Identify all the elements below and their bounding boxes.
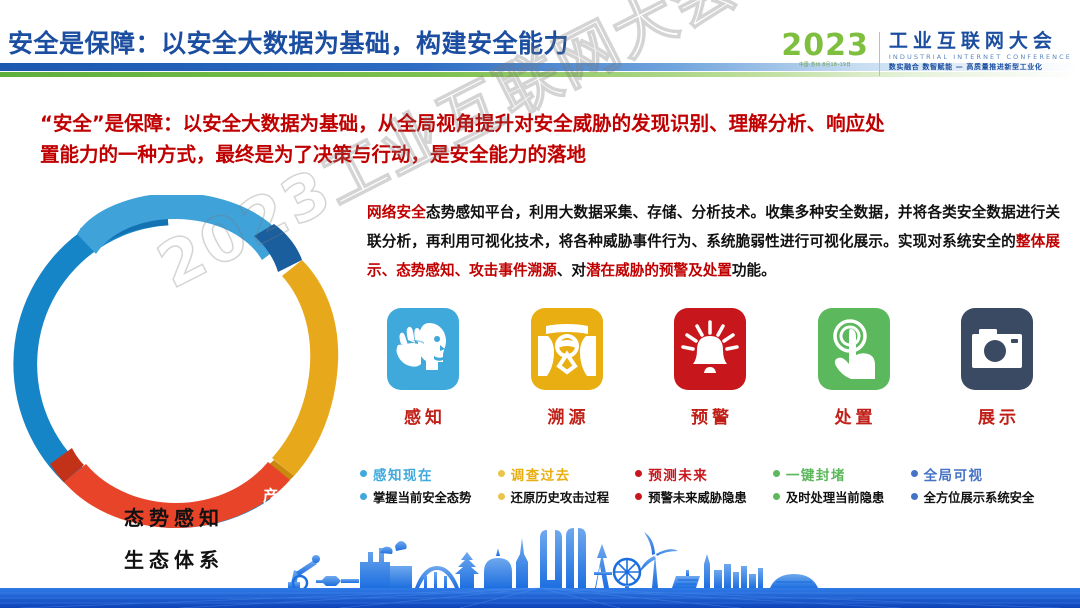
display-caption: 展示 xyxy=(974,403,1020,428)
bullet-subline: 还原历史攻击过程 xyxy=(511,488,609,506)
bullet-dot-icon xyxy=(773,493,780,500)
bullet-headline-row: 全局可视 xyxy=(911,462,1060,485)
bullet-subline-row: 还原历史攻击过程 xyxy=(498,485,636,508)
logo-divider xyxy=(879,32,880,76)
logo-slogan: 数实融合 数智赋能 — 高质量推进新型工业化 xyxy=(889,62,1072,73)
display-tile[interactable] xyxy=(961,308,1033,390)
bullet-dot-icon xyxy=(498,470,505,477)
bullet-dot-icon xyxy=(635,470,642,477)
bullet-col-traceability: 调查过去 还原历史攻击过程 xyxy=(498,462,636,508)
one-click-block-touch-icon xyxy=(825,319,883,379)
bullet-headline-row: 预测未来 xyxy=(635,462,773,485)
logo-year-block: 2023 中国·苏州 8月18–19日 xyxy=(781,30,879,70)
lead-line-2: 置能力的一种方式，最终是为了决策与行动，是安全能力的落地 xyxy=(40,139,1060,170)
donut-svg xyxy=(2,195,354,533)
bullet-headline-row: 感知现在 xyxy=(360,462,498,485)
bullet-dot-icon xyxy=(360,470,367,477)
disposal-caption: 处置 xyxy=(831,403,877,428)
bullet-headline: 调查过去 xyxy=(511,464,571,484)
bullet-col-disposal: 一键封堵 及时处理当前隐患 xyxy=(773,462,911,508)
bullet-dot-icon xyxy=(773,470,780,477)
perception-head-hand-icon xyxy=(393,320,453,378)
bullet-subline-row: 全方位展示系统安全 xyxy=(911,485,1060,508)
body-part-4: 潜在威胁的预警及处置 xyxy=(586,262,732,279)
footer-skyline-svg xyxy=(0,528,1080,608)
bullet-subline: 预警未来威胁隐患 xyxy=(648,488,746,506)
body-part-0: 网络安全 xyxy=(367,204,426,221)
bullet-subline-row: 掌握当前安全态势 xyxy=(360,485,498,508)
footer-skyline xyxy=(0,528,1080,608)
body-part-3: 、对 xyxy=(557,262,586,279)
bullet-headline: 一键封堵 xyxy=(786,464,846,484)
bullet-subline-row: 及时处理当前隐患 xyxy=(773,485,911,508)
bullet-headline: 预测未来 xyxy=(648,464,708,484)
bullet-dot-icon xyxy=(635,493,642,500)
page-title: 安全是保障：以安全大数据为基础，构建安全能力 xyxy=(8,24,569,60)
bullet-dot-icon xyxy=(360,493,367,500)
bullet-dot-icon xyxy=(911,493,918,500)
bullet-subline: 全方位展示系统安全 xyxy=(924,488,1035,506)
skyline-buildings xyxy=(288,528,818,590)
traceability-tile[interactable] xyxy=(531,308,603,390)
donut-label-security-tech: 安全技术 xyxy=(95,403,169,425)
bullet-headline: 感知现在 xyxy=(373,464,433,484)
logo-year: 2023 xyxy=(781,30,869,62)
body-part-5: 功能。 xyxy=(732,262,776,279)
bullet-headline: 全局可视 xyxy=(924,464,984,484)
trace-source-magnifier-icon xyxy=(538,320,596,378)
bullet-subline-row: 预警未来威胁隐患 xyxy=(635,485,773,508)
display-camera-icon xyxy=(969,325,1025,373)
perception-tile[interactable] xyxy=(387,308,459,390)
lead-paragraph: “安全”是保障：以安全大数据为基础，从全局视角提升对安全威胁的发现识别、理解分析… xyxy=(40,108,1060,170)
alarm-bell-icon xyxy=(680,320,740,378)
alarm-tile[interactable] xyxy=(674,308,746,390)
bullet-col-perception: 感知现在 掌握当前安全态势 xyxy=(360,462,498,508)
traceability-caption: 溯源 xyxy=(544,403,590,428)
conference-logo: 2023 中国·苏州 8月18–19日 工业互联网大会 INDUSTRIAL I… xyxy=(781,30,1072,80)
capability-bullet-rows: 感知现在 掌握当前安全态势 调查过去 还原历史攻击过程 预测未来 xyxy=(360,462,1060,508)
ecosystem-donut-diagram: 安全技术 产品 能力 态势感知 生态体系 xyxy=(2,195,354,533)
bullet-dot-icon xyxy=(498,493,505,500)
logo-name-block: 工业互联网大会 INDUSTRIAL INTERNET CONFERENCE 数… xyxy=(889,30,1072,73)
bullet-col-alarm: 预测未来 预警未来威胁隐患 xyxy=(635,462,773,508)
alarm-caption: 预警 xyxy=(687,403,733,428)
body-paragraph: 网络安全态势感知平台，利用大数据采集、存储、分析技术。收集多种安全数据，并将各类… xyxy=(367,198,1060,285)
bullet-headline-row: 调查过去 xyxy=(498,462,636,485)
logo-name-cn: 工业互联网大会 xyxy=(889,30,1072,52)
disposal-tile[interactable] xyxy=(818,308,890,390)
slide-header: 安全是保障：以安全大数据为基础，构建安全能力 2023 中国·苏州 8月18–1… xyxy=(0,0,1080,90)
bullet-dot-icon xyxy=(911,470,918,477)
donut-inner-hole xyxy=(56,242,300,486)
logo-date: 中国·苏州 8月18–19日 xyxy=(781,62,869,71)
body-part-1: 态势感知平台，利用大数据采集、存储、分析技术。收集多种安全数据，并将各类安全数据… xyxy=(367,204,1060,250)
bullet-headline-row: 一键封堵 xyxy=(773,462,911,485)
logo-name-en: INDUSTRIAL INTERNET CONFERENCE xyxy=(889,52,1072,62)
bullet-subline: 掌握当前安全态势 xyxy=(373,488,471,506)
bullet-subline: 及时处理当前隐患 xyxy=(786,488,884,506)
slide-root: 安全是保障：以安全大数据为基础，构建安全能力 2023 中国·苏州 8月18–1… xyxy=(0,0,1080,608)
perception-caption: 感知 xyxy=(400,403,446,428)
bullet-col-display: 全局可视 全方位展示系统安全 xyxy=(911,462,1060,508)
lead-line-1: “安全”是保障：以安全大数据为基础，从全局视角提升对安全威胁的发现识别、理解分析… xyxy=(40,108,1060,139)
